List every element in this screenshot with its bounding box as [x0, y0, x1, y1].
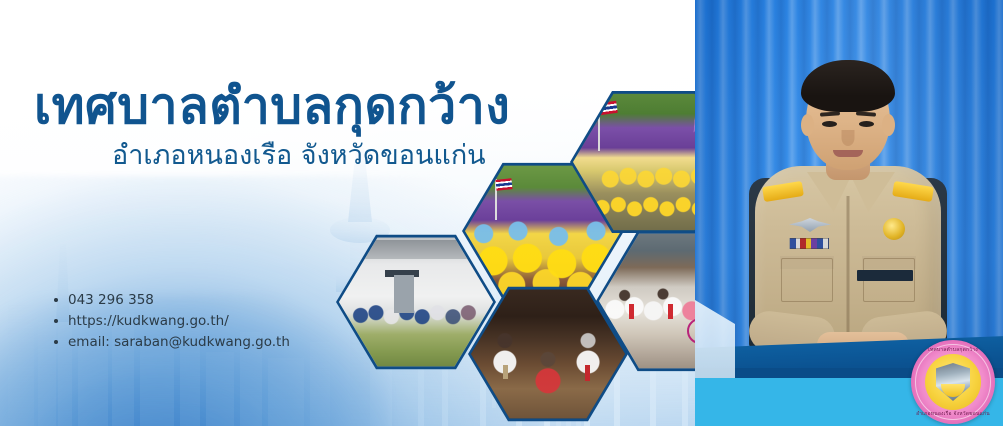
building-door — [394, 275, 414, 313]
hex-clip — [339, 235, 493, 369]
flagpole — [598, 102, 600, 150]
nose — [842, 130, 855, 146]
seal-bottom-text: อำเภอหนองเรือ จังหวัดขอนแก่น — [911, 410, 995, 418]
red-scarf — [668, 304, 673, 319]
eye-left — [822, 121, 837, 127]
gold-badge-icon — [883, 218, 905, 240]
red-scarf — [629, 304, 634, 319]
sash — [503, 365, 508, 379]
uniform-torso — [755, 166, 941, 348]
photo-collage — [0, 0, 760, 426]
wing-insignia-icon — [789, 218, 831, 232]
epaulette-right — [892, 181, 934, 202]
eyebrow-left — [820, 111, 840, 116]
portrait-mayor — [739, 48, 957, 348]
municipality-banner: เทศบาลตำบลกุดกว้าง อำเภอหนองเรือ จังหวัด… — [0, 0, 1003, 426]
epaulette-left — [762, 181, 804, 202]
name-tag — [857, 270, 913, 281]
portrait-panel: เทศบาลตำบลกุดกว้าง อำเภอหนองเรือ จังหวัด… — [695, 0, 1003, 426]
medal-ribbon-bar — [789, 238, 829, 249]
eyebrow-right — [856, 111, 876, 116]
head — [806, 68, 890, 170]
eye-right — [859, 121, 874, 127]
shirt-placket — [847, 196, 850, 346]
thai-flag-icon — [598, 101, 617, 115]
ear-left — [801, 114, 814, 136]
seal-top-text: เทศบาลตำบลกุดกว้าง — [911, 346, 995, 354]
photo-group-white-building — [339, 235, 493, 369]
mouth — [833, 150, 863, 157]
municipality-seal[interactable]: เทศบาลตำบลกุดกว้าง อำเภอหนองเรือ จังหวัด… — [911, 340, 995, 424]
thai-flag-icon — [496, 179, 513, 192]
ear-right — [882, 114, 895, 136]
chest-pocket-left — [781, 258, 833, 302]
necktie — [585, 365, 590, 381]
hair — [801, 60, 895, 112]
